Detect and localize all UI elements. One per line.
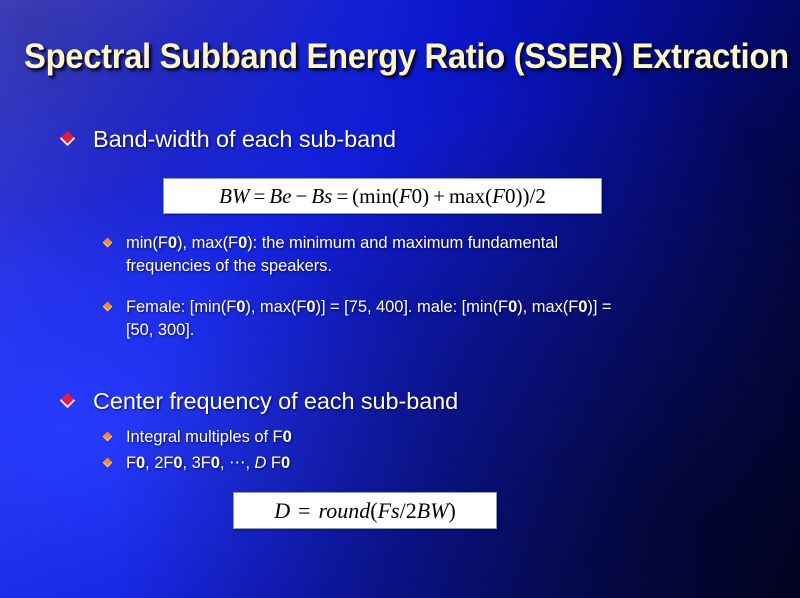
text-frag: Female: [min(F [126, 298, 236, 316]
formula-bw-minus: − [291, 184, 311, 209]
formula-d-equals: = [290, 498, 318, 524]
subbullet-min-max-definition-text: min(F0), max(F0): the minimum and maximu… [126, 232, 558, 278]
formula-bw-zero-b: 0 [505, 184, 516, 209]
bullet-band-width: Band-width of each sub-band [62, 124, 396, 154]
formula-bw-lhs: BW [219, 184, 249, 209]
formula-d-round: round [319, 498, 371, 524]
formula-d-close-paren: ) [448, 498, 455, 524]
text-frag: , 3F [183, 454, 211, 472]
formula-bw-min-open: ( [392, 184, 399, 209]
text-frag: ), max(F [245, 298, 306, 316]
text-frag: ), max(F [177, 234, 238, 252]
text-frag-italic: D [255, 454, 267, 472]
formula-bw-min: min [359, 184, 392, 209]
diamond-bullet-icon [60, 393, 76, 409]
subbullet-integral-multiples: Integral multiples of F0 [104, 426, 292, 449]
bullet-center-frequency: Center frequency of each sub-band [62, 386, 458, 416]
subbullet-integral-multiples-text: Integral multiples of F0 [126, 426, 292, 449]
formula-bw-min-close: ) [422, 184, 429, 209]
diamond-subbullet-icon [103, 302, 113, 312]
formula-d-two: 2 [406, 498, 417, 524]
text-frag: Integral multiples of F [126, 428, 283, 446]
text-frag: )] = [587, 298, 611, 316]
formula-bw-equals-2: = [332, 184, 352, 209]
page-title: Spectral Subband Energy Ratio (SSER) Ext… [24, 36, 776, 78]
subbullet-female-male-ranges-text: Female: [min(F0), max(F0)] = [75, 400]. … [126, 296, 612, 342]
text-frag-bold: 0 [281, 454, 290, 472]
formula-subband-count: D = round ( Fs / 2 BW ) [233, 492, 497, 529]
text-frag-bold: 0 [168, 234, 177, 252]
text-frag: ): the minimum and maximum fundamental [247, 234, 558, 252]
formula-d-bw: BW [417, 498, 449, 524]
formula-bw-close-paren: ) [523, 184, 530, 209]
slide-canvas: Spectral Subband Energy Ratio (SSER) Ext… [0, 0, 800, 598]
subbullet-harmonic-series: F0, 2F0, 3F0, ⋯, D F0 [104, 452, 290, 475]
formula-bw-divide-two: /2 [530, 184, 546, 209]
diamond-subbullet-icon [103, 238, 113, 248]
formula-d-lhs: D [274, 498, 290, 524]
formula-bw-zero-a: 0 [412, 184, 423, 209]
text-frag-bold: 0 [173, 454, 182, 472]
formula-bw-equals-1: = [249, 184, 269, 209]
text-frag-bold: 0 [283, 428, 292, 446]
bullet-band-width-label: Band-width of each sub-band [93, 124, 396, 154]
text-frag: , ⋯, [220, 454, 255, 472]
text-frag-bold: 0 [136, 454, 145, 472]
formula-bw-be: Be [269, 184, 291, 209]
text-frag: , 2F [145, 454, 173, 472]
text-frag: min(F [126, 234, 168, 252]
formula-bandwidth: BW = Be − Bs = ( min ( F 0 ) + max ( F 0… [163, 178, 602, 214]
text-frag-bold: 0 [236, 298, 245, 316]
formula-d-open-paren: ( [370, 498, 377, 524]
text-frag: F [126, 454, 136, 472]
subbullet-harmonic-series-text: F0, 2F0, 3F0, ⋯, D F0 [126, 452, 290, 475]
formula-bw-max-close: ) [516, 184, 523, 209]
text-frag: [50, 300]. [126, 321, 194, 339]
formula-bw-bs: Bs [311, 184, 332, 209]
text-frag: ), max(F [517, 298, 578, 316]
bullet-center-frequency-label: Center frequency of each sub-band [93, 386, 458, 416]
text-frag: )] = [75, 400]. male: [min(F [316, 298, 509, 316]
text-frag-bold: 0 [508, 298, 517, 316]
formula-bw-open-paren: ( [352, 184, 359, 209]
subbullet-female-male-ranges: Female: [min(F0), max(F0)] = [75, 400]. … [104, 296, 714, 342]
diamond-subbullet-icon [103, 432, 113, 442]
text-frag-bold: 0 [238, 234, 247, 252]
formula-bw-f0b: F [492, 184, 505, 209]
text-frag-bold: 0 [211, 454, 220, 472]
subbullet-min-max-definition: min(F0), max(F0): the minimum and maximu… [104, 232, 704, 278]
formula-bw-plus: + [429, 184, 449, 209]
text-frag: F [266, 454, 281, 472]
formula-bw-max: max [449, 184, 485, 209]
text-frag: frequencies of the speakers. [126, 257, 332, 275]
text-frag-bold: 0 [306, 298, 315, 316]
diamond-bullet-icon [60, 131, 76, 147]
diamond-subbullet-icon [103, 458, 113, 468]
formula-bw-f0a: F [399, 184, 412, 209]
formula-d-fs: Fs [378, 498, 400, 524]
